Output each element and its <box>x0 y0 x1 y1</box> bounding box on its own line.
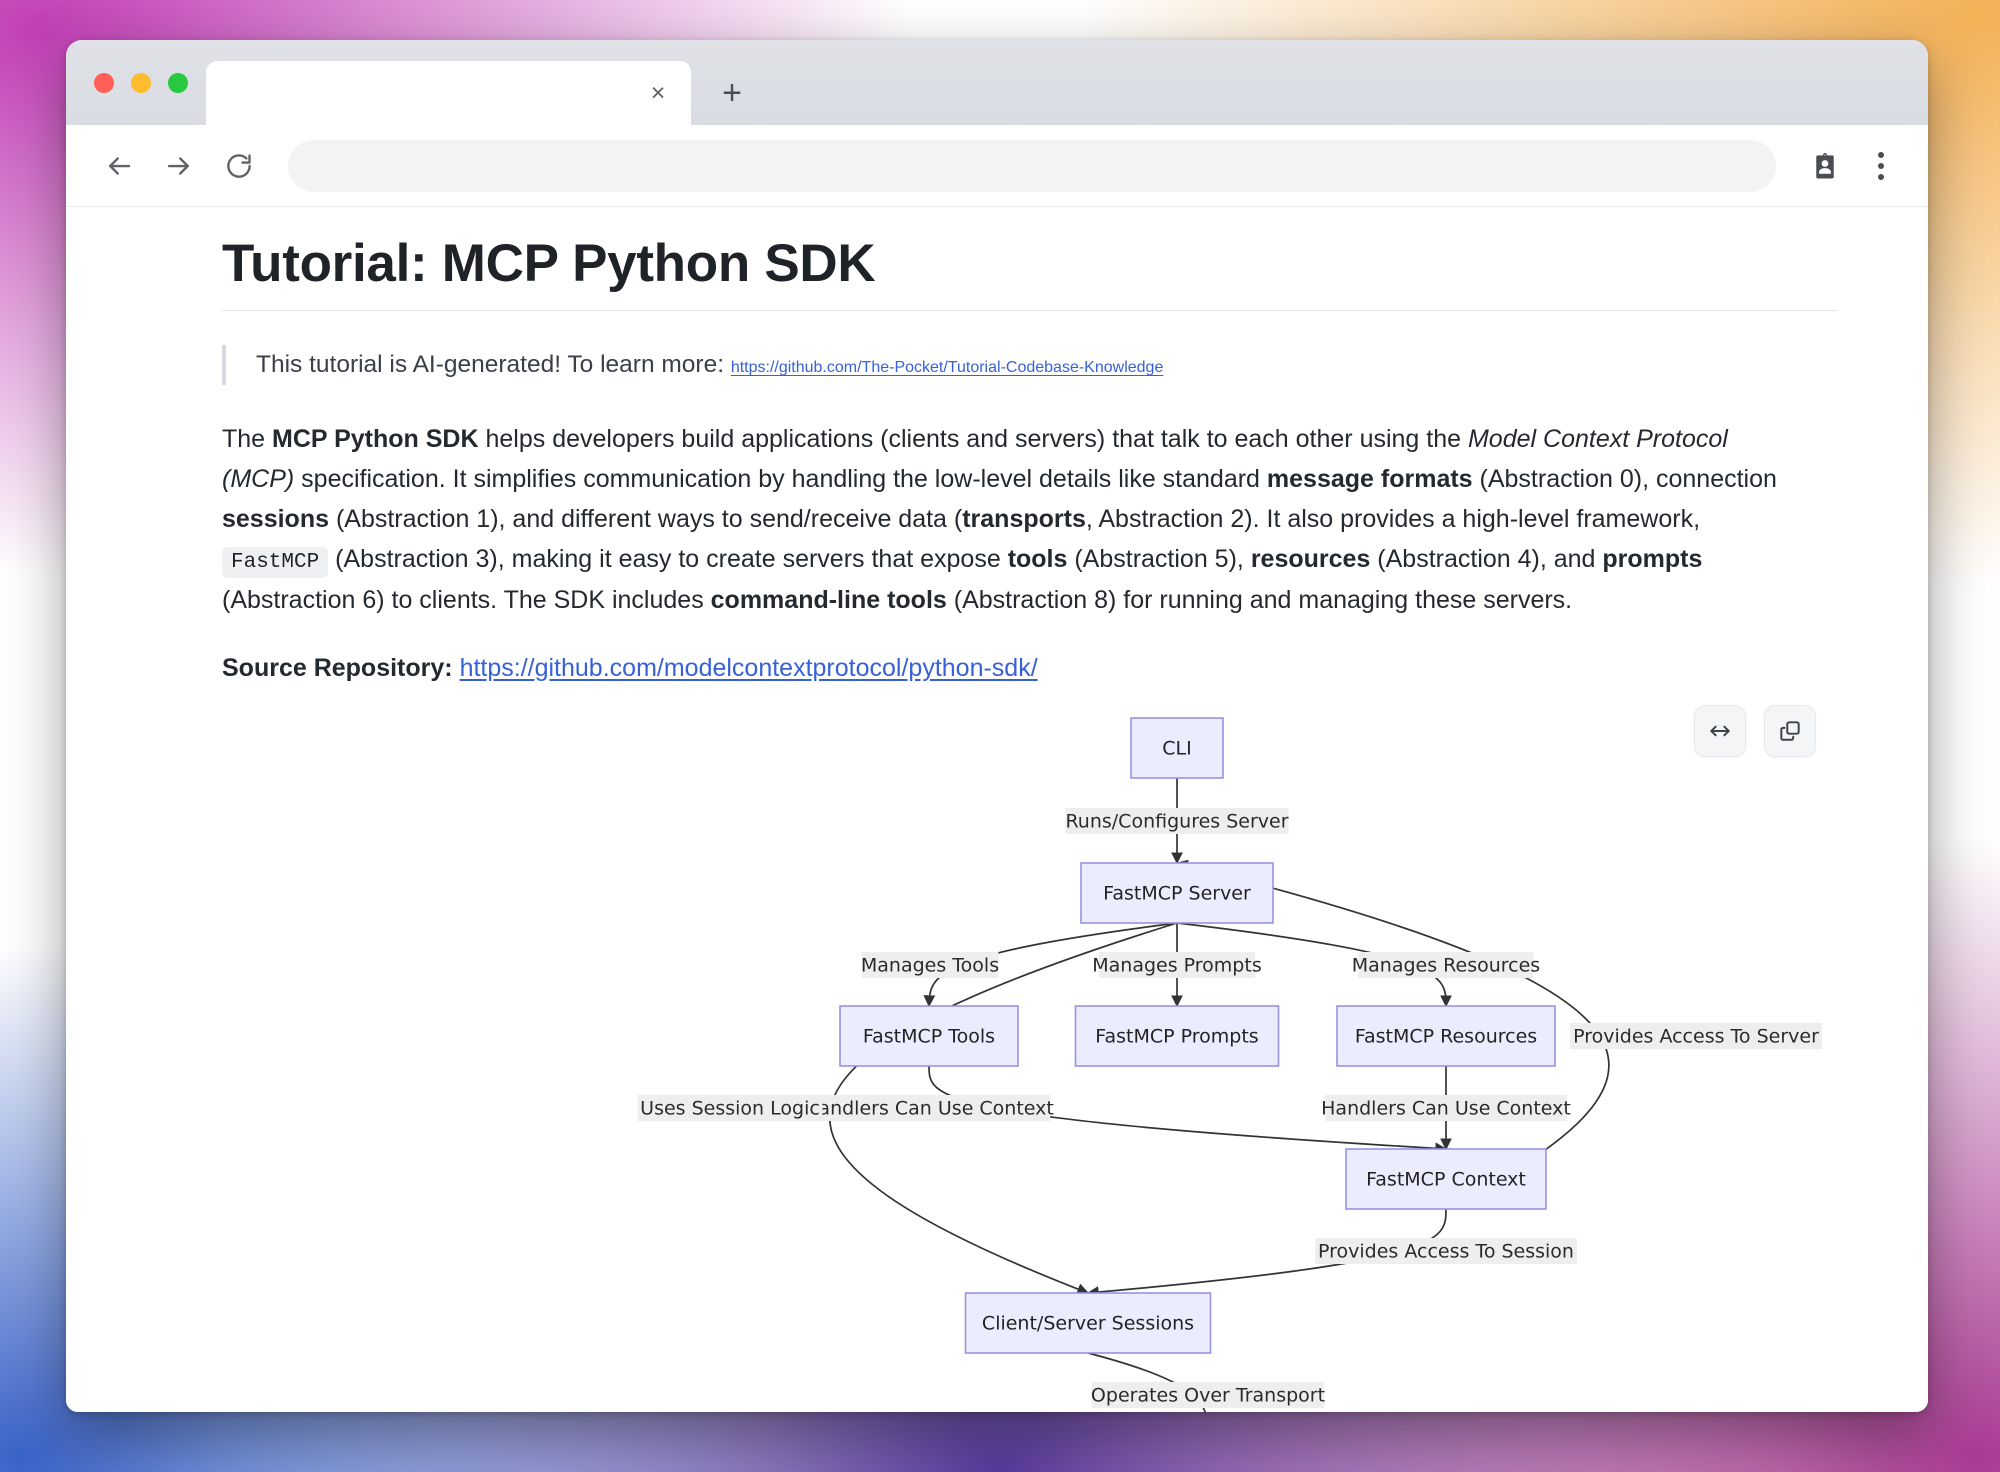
intro-text: (Abstraction 1), and different ways to s… <box>329 505 962 533</box>
diagram-node[interactable]: FastMCP Resources <box>1337 1006 1555 1066</box>
diagram-node-label: FastMCP Context <box>1366 1169 1526 1191</box>
intro-bold-sdk: MCP Python SDK <box>272 425 479 453</box>
source-repository-label: Source Repository: <box>222 654 460 682</box>
architecture-flowchart[interactable]: Runs/Configures ServerManages ToolsManag… <box>222 705 1922 1412</box>
svg-text:Manages Tools: Manages Tools <box>861 955 999 977</box>
svg-text:Provides Access To Server: Provides Access To Server <box>1573 1026 1819 1048</box>
browser-window: × + <box>66 40 1928 1412</box>
three-dot-menu-icon[interactable] <box>1856 141 1906 191</box>
close-tab-icon[interactable]: × <box>641 76 675 110</box>
new-tab-button[interactable]: + <box>709 70 755 116</box>
diagram-node[interactable]: CLI <box>1131 718 1223 778</box>
svg-text:Operates Over Transport: Operates Over Transport <box>1091 1385 1325 1407</box>
intro-bold-resources: resources <box>1251 545 1371 573</box>
svg-text:Handlers Can Use Context: Handlers Can Use Context <box>1321 1098 1571 1120</box>
diagram-node-label: FastMCP Tools <box>863 1026 995 1048</box>
diagram-node[interactable]: FastMCP Server <box>1081 863 1273 923</box>
desktop-background: × + <box>0 0 2000 1472</box>
diagram-node-label: FastMCP Prompts <box>1095 1026 1258 1048</box>
diagram-node-label: CLI <box>1162 738 1191 760</box>
close-window-button[interactable] <box>94 73 114 93</box>
intro-text: (Abstraction 8) for running and managing… <box>947 586 1572 614</box>
diagram-node[interactable]: FastMCP Context <box>1346 1149 1546 1209</box>
intro-bold-message-formats: message formats <box>1267 465 1473 493</box>
minimize-window-button[interactable] <box>131 73 151 93</box>
svg-text:Manages Prompts: Manages Prompts <box>1092 955 1261 977</box>
tutorial-knowledge-link[interactable]: https://github.com/The-Pocket/Tutorial-C… <box>731 359 1164 376</box>
intro-bold-cli-tools: command-line tools <box>711 586 947 614</box>
intro-text: (Abstraction 4), and <box>1370 545 1602 573</box>
forward-arrow-icon[interactable] <box>152 139 206 193</box>
diagram-node-label: Client/Server Sessions <box>982 1313 1194 1335</box>
intro-text: (Abstraction 0), connection <box>1473 465 1777 493</box>
diagram-node[interactable]: Client/Server Sessions <box>966 1293 1211 1353</box>
intro-text: The <box>222 425 272 453</box>
diagram-node-label: FastMCP Resources <box>1355 1026 1537 1048</box>
diagram-node-label: FastMCP Server <box>1103 883 1251 905</box>
callout-text: This tutorial is AI-generated! To learn … <box>256 351 731 378</box>
document-content: Tutorial: MCP Python SDK This tutorial i… <box>66 207 1928 1412</box>
maximize-window-button[interactable] <box>168 73 188 93</box>
horizontal-resize-icon[interactable] <box>1694 705 1746 757</box>
svg-text:Runs/Configures Server: Runs/Configures Server <box>1065 811 1288 833</box>
intro-bold-transports: transports <box>962 505 1086 533</box>
intro-text: specification. It simplifies communicati… <box>294 465 1267 493</box>
diagram-container: Runs/Configures ServerManages ToolsManag… <box>222 705 1838 1412</box>
intro-text: helps developers build applications (cli… <box>479 425 1468 453</box>
profile-badge-icon[interactable] <box>1800 141 1850 191</box>
source-repository-link[interactable]: https://github.com/modelcontextprotocol/… <box>460 654 1038 682</box>
page-title: Tutorial: MCP Python SDK <box>222 233 1838 311</box>
browser-tab[interactable]: × <box>206 61 691 125</box>
window-controls <box>86 40 206 125</box>
svg-text:Provides Access To Session: Provides Access To Session <box>1318 1241 1574 1263</box>
intro-text: , Abstraction 2). It also provides a hig… <box>1086 505 1700 533</box>
diagram-toolbar <box>1694 705 1816 757</box>
intro-text: (Abstraction 5), <box>1067 545 1250 573</box>
page-viewport[interactable]: Tutorial: MCP Python SDK This tutorial i… <box>66 207 1928 1412</box>
address-bar[interactable] <box>288 140 1776 192</box>
tab-strip: × + <box>66 40 1928 125</box>
back-arrow-icon[interactable] <box>92 139 146 193</box>
intro-text: (Abstraction 3), making it easy to creat… <box>328 545 1007 573</box>
svg-text:Handlers Can Use Context: Handlers Can Use Context <box>804 1098 1054 1120</box>
inline-code-fastmcp: FastMCP <box>222 547 328 578</box>
source-repository-line: Source Repository: https://github.com/mo… <box>222 654 1838 683</box>
intro-paragraph: The MCP Python SDK helps developers buil… <box>222 419 1782 621</box>
diagram-node[interactable]: FastMCP Prompts <box>1076 1006 1279 1066</box>
svg-text:Uses Session Logic: Uses Session Logic <box>640 1098 820 1120</box>
copy-icon[interactable] <box>1764 705 1816 757</box>
diagram-node[interactable]: FastMCP Tools <box>840 1006 1018 1066</box>
intro-bold-tools: tools <box>1008 545 1068 573</box>
intro-bold-sessions: sessions <box>222 505 329 533</box>
browser-toolbar <box>66 125 1928 207</box>
intro-text: (Abstraction 6) to clients. The SDK incl… <box>222 586 711 614</box>
svg-text:Manages Resources: Manages Resources <box>1352 955 1540 977</box>
ai-generated-callout: This tutorial is AI-generated! To learn … <box>222 345 1838 385</box>
reload-icon[interactable] <box>212 139 266 193</box>
intro-bold-prompts: prompts <box>1602 545 1702 573</box>
